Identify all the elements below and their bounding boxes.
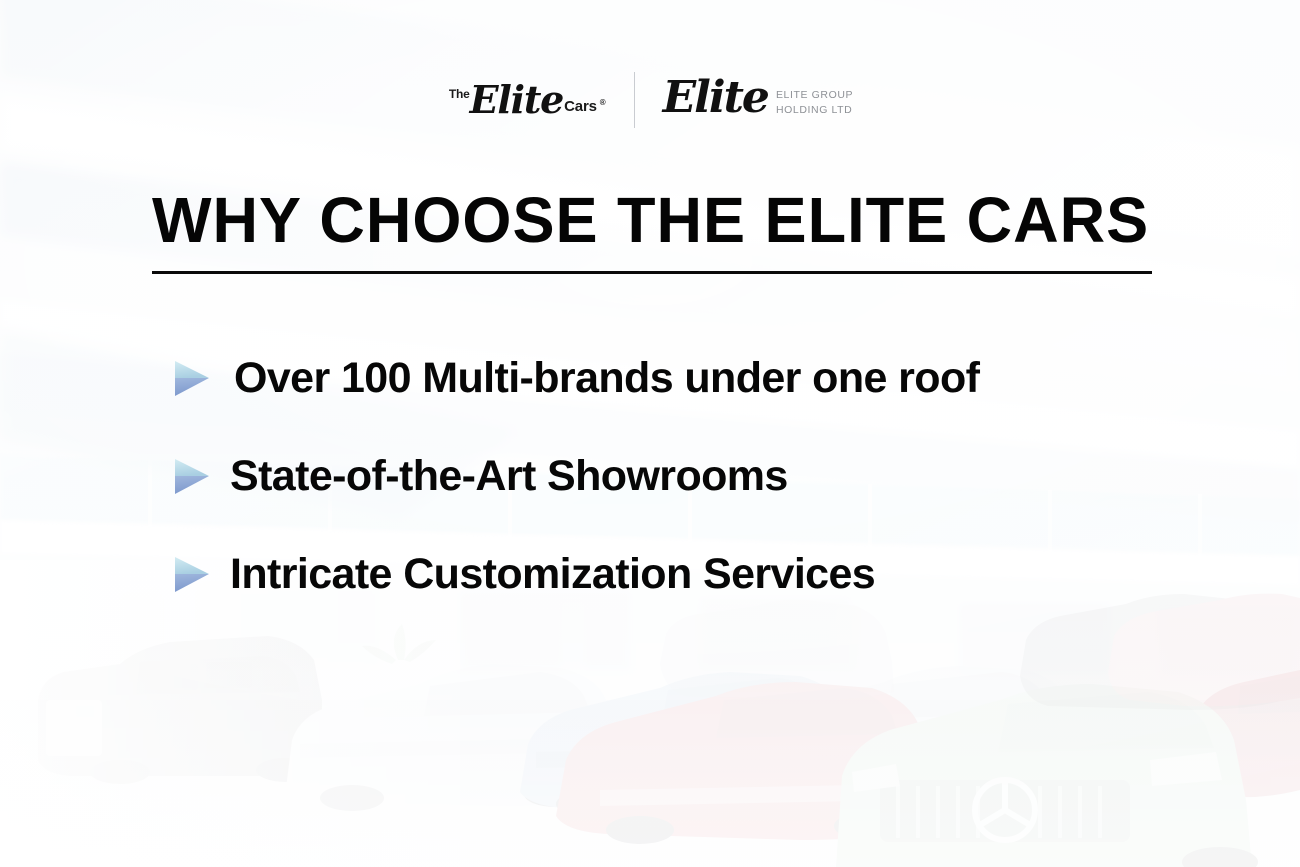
the-elite-cars-logo[interactable]: The Elite Cars ®: [447, 82, 634, 118]
elite-group-holding-logo[interactable]: Elite ELITE GROUP HOLDING LTD: [635, 80, 854, 120]
poster-canvas: The Elite Cars ® Elite ELITE GROUP HOLDI…: [0, 0, 1300, 867]
benefits-list: Over 100 Multi-brands under one roof: [172, 330, 1222, 624]
arrow-right-bullet-icon: [172, 358, 230, 400]
logo-lockup: The Elite Cars ® Elite ELITE GROUP HOLDI…: [0, 72, 1300, 128]
registered-trademark-icon: ®: [600, 98, 606, 107]
list-item: Intricate Customization Services: [172, 526, 1222, 624]
list-item: Over 100 Multi-brands under one roof: [172, 330, 1222, 428]
poster-content: The Elite Cars ® Elite ELITE GROUP HOLDI…: [0, 0, 1300, 867]
elite-group-line2: HOLDING LTD: [776, 104, 853, 117]
elite-group-wordmark: ELITE GROUP HOLDING LTD: [776, 89, 853, 117]
list-item-label: Intricate Customization Services: [230, 552, 875, 597]
logo-cars-text: Cars: [564, 98, 597, 115]
list-item-label: State-of-the-Art Showrooms: [230, 454, 788, 499]
arrow-right-bullet-icon: [172, 456, 230, 498]
logo-the-text: The: [449, 87, 470, 101]
logo-elite-script-text: Elite: [470, 82, 564, 118]
title-underline-rule: [152, 271, 1152, 274]
elite-group-line1: ELITE GROUP: [776, 89, 853, 102]
list-item: State-of-the-Art Showrooms: [172, 428, 1222, 526]
page-title: WHY CHOOSE THE ELITE CARS: [152, 188, 1137, 252]
arrow-right-bullet-icon: [172, 554, 230, 596]
list-item-label: Over 100 Multi-brands under one roof: [230, 356, 979, 401]
elite-group-script-text: Elite: [663, 78, 768, 118]
